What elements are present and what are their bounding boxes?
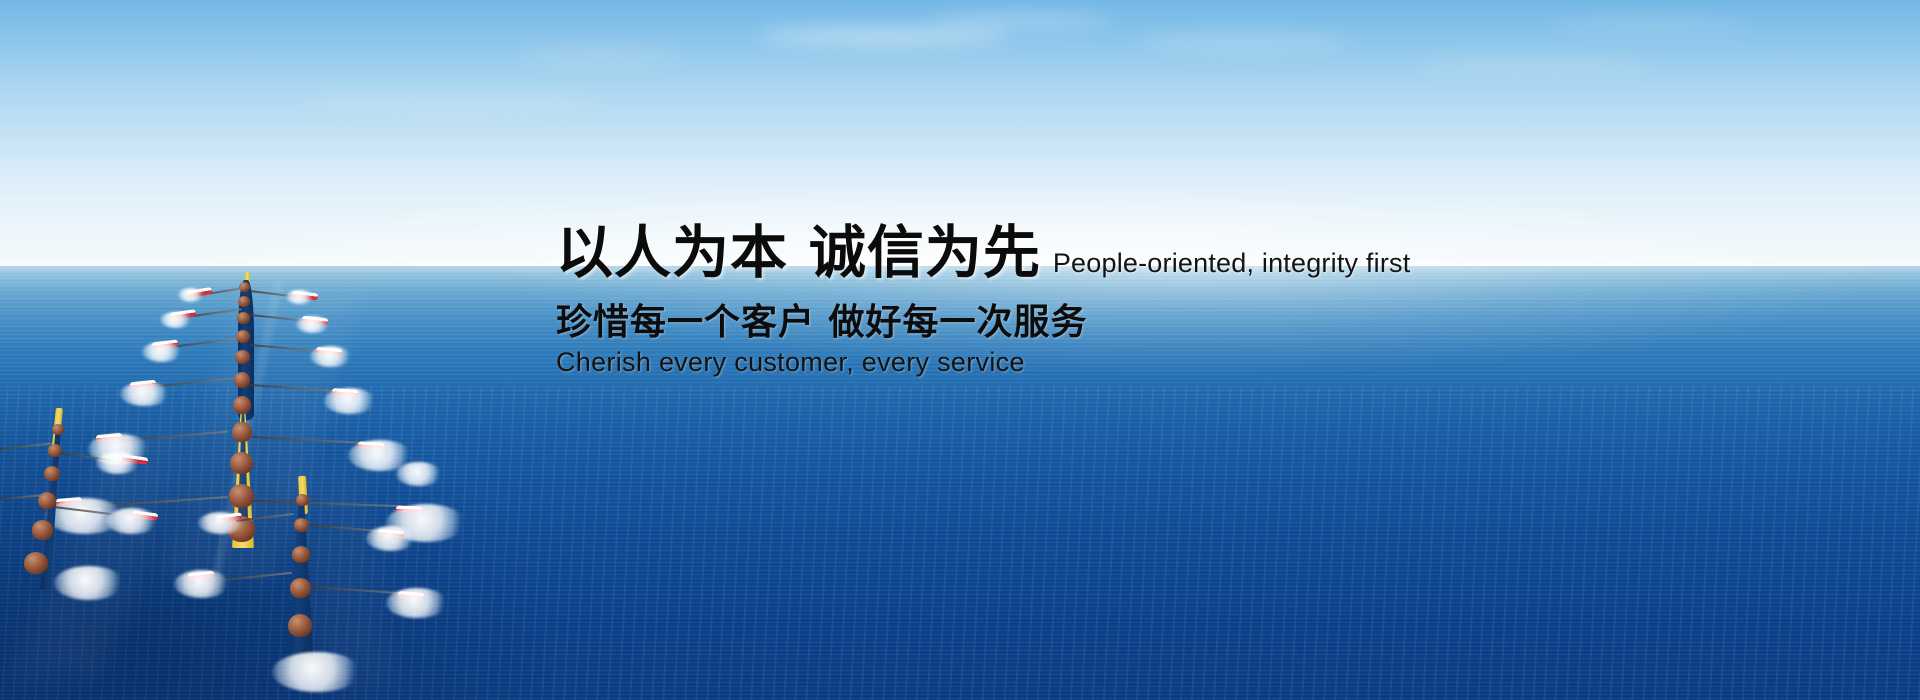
cloud-wisp <box>520 52 680 62</box>
rower <box>236 330 250 343</box>
cloud-wisp <box>760 28 1010 44</box>
headline-english-tagline: People-oriented, integrity first <box>1053 248 1411 278</box>
headline-row: 以人为本 诚信为先People-oriented, integrity firs… <box>556 222 1456 288</box>
cloud-wisp <box>1140 36 1350 49</box>
subline-english: Cherish every customer, every service <box>556 347 1456 378</box>
water-splash <box>272 652 362 692</box>
rower <box>235 350 250 364</box>
rower <box>234 372 250 388</box>
water-splash <box>106 508 158 534</box>
page-title: 以人为本 诚信为先 <box>556 220 1041 286</box>
subline-chinese: 珍惜每一个客户 做好每一次服务 <box>556 301 1456 345</box>
rower <box>288 614 312 637</box>
water-splash <box>366 526 416 551</box>
hero-banner: 以人为本 诚信为先People-oriented, integrity firs… <box>0 0 1920 700</box>
rower <box>237 312 250 324</box>
water-splash <box>142 342 182 362</box>
water-splash <box>286 290 314 304</box>
water-splash <box>96 452 140 474</box>
water-splash <box>54 566 124 600</box>
slogan-text-block: 以人为本 诚信为先People-oriented, integrity firs… <box>556 222 1456 378</box>
cloud-wisp <box>930 14 1110 26</box>
water-splash <box>296 316 330 333</box>
water-splash <box>386 588 448 618</box>
water-splash <box>396 462 442 486</box>
rower <box>44 466 60 481</box>
water-splash <box>198 512 244 534</box>
rower <box>32 520 53 540</box>
cloud-wisp <box>1550 20 1750 31</box>
cloud-wisp <box>300 95 600 109</box>
rower <box>232 422 252 442</box>
rower <box>24 552 48 574</box>
water-splash <box>178 288 204 302</box>
water-splash <box>120 382 170 406</box>
rower <box>290 578 311 598</box>
rower <box>292 546 310 563</box>
rower <box>238 296 250 307</box>
water-splash <box>174 570 230 598</box>
rower <box>229 484 254 508</box>
rower <box>294 518 309 532</box>
water-splash <box>310 346 352 367</box>
water-splash <box>324 388 376 414</box>
cloud-wisp <box>1420 60 1650 72</box>
water-splash <box>160 312 192 328</box>
rower <box>230 452 253 474</box>
rower <box>48 444 62 457</box>
rower <box>52 424 64 435</box>
rower <box>233 396 251 414</box>
rower <box>296 494 309 506</box>
